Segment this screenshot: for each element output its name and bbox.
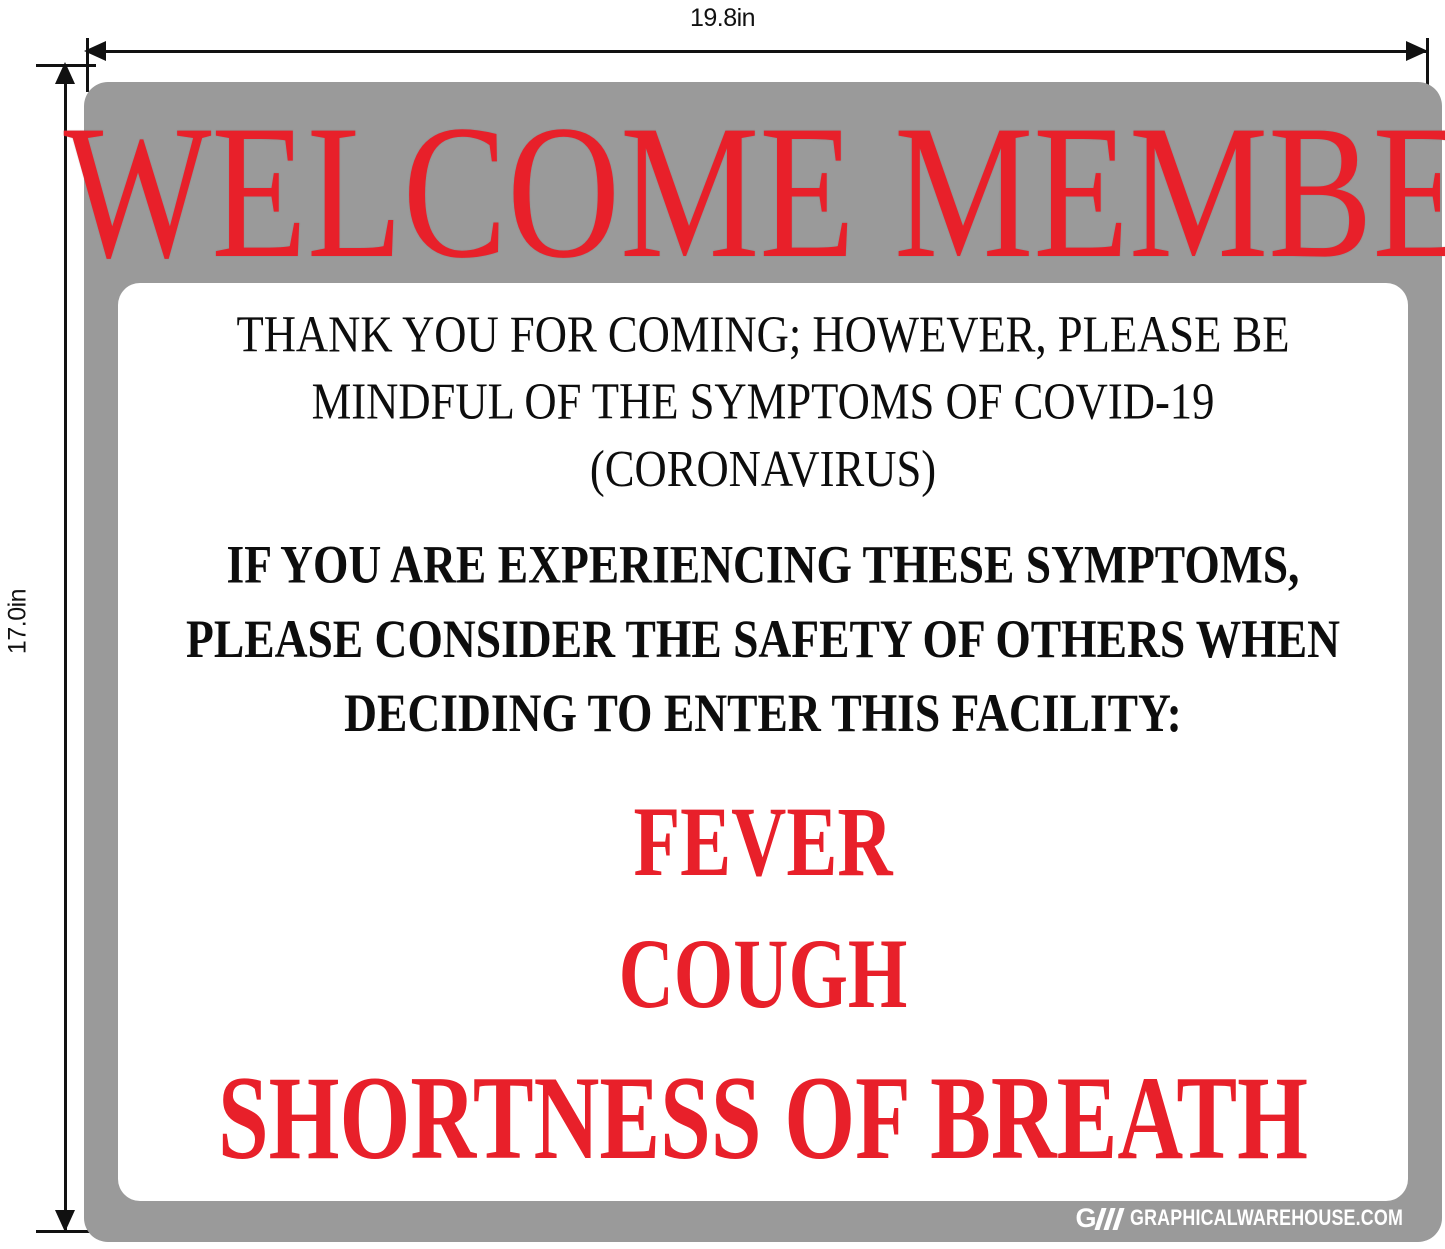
brand-name-label: GRAPHICALWAREHOUSE.COM (1130, 1207, 1403, 1229)
symptom-list: FEVER COUGH SHORTNESS OF BREATH (144, 792, 1382, 1150)
sign-product-image: 19.8in 17.0in WELCOME MEMBERS THANK YOU … (0, 0, 1445, 1249)
sign-instruction-paragraph: IF YOU ARE EXPERIENCING THESE SYMPTOMS, … (150, 527, 1376, 750)
symptom-item-cough: COUGH (156, 924, 1369, 1024)
brand-mark-icon: G (1076, 1205, 1124, 1232)
width-dimension-line (88, 50, 1428, 53)
arrow-left-icon (84, 41, 106, 61)
brand-logo: G GRAPHICALWAREHOUSE.COM (1076, 1205, 1420, 1232)
arrow-down-icon (55, 1210, 75, 1232)
symptom-item-fever: FEVER (156, 792, 1369, 892)
sign-panel: WELCOME MEMBERS THANK YOU FOR COMING; HO… (84, 82, 1442, 1242)
arrow-right-icon (1406, 41, 1428, 61)
sign-body-panel: THANK YOU FOR COMING; HOWEVER, PLEASE BE… (118, 283, 1408, 1201)
arrow-up-icon (55, 62, 75, 84)
width-dimension-label: 19.8in (0, 4, 1445, 33)
symptom-item-shortness-of-breath: SHORTNESS OF BREATH (150, 1058, 1376, 1178)
height-dimension-label: 17.0in (4, 567, 33, 677)
three-slashes-icon (1098, 1208, 1124, 1230)
sign-title: WELCOME MEMBERS (64, 96, 1445, 288)
sign-intro-paragraph: THANK YOU FOR COMING; HOWEVER, PLEASE BE… (163, 301, 1364, 503)
brand-letter-g: G (1076, 1205, 1096, 1232)
